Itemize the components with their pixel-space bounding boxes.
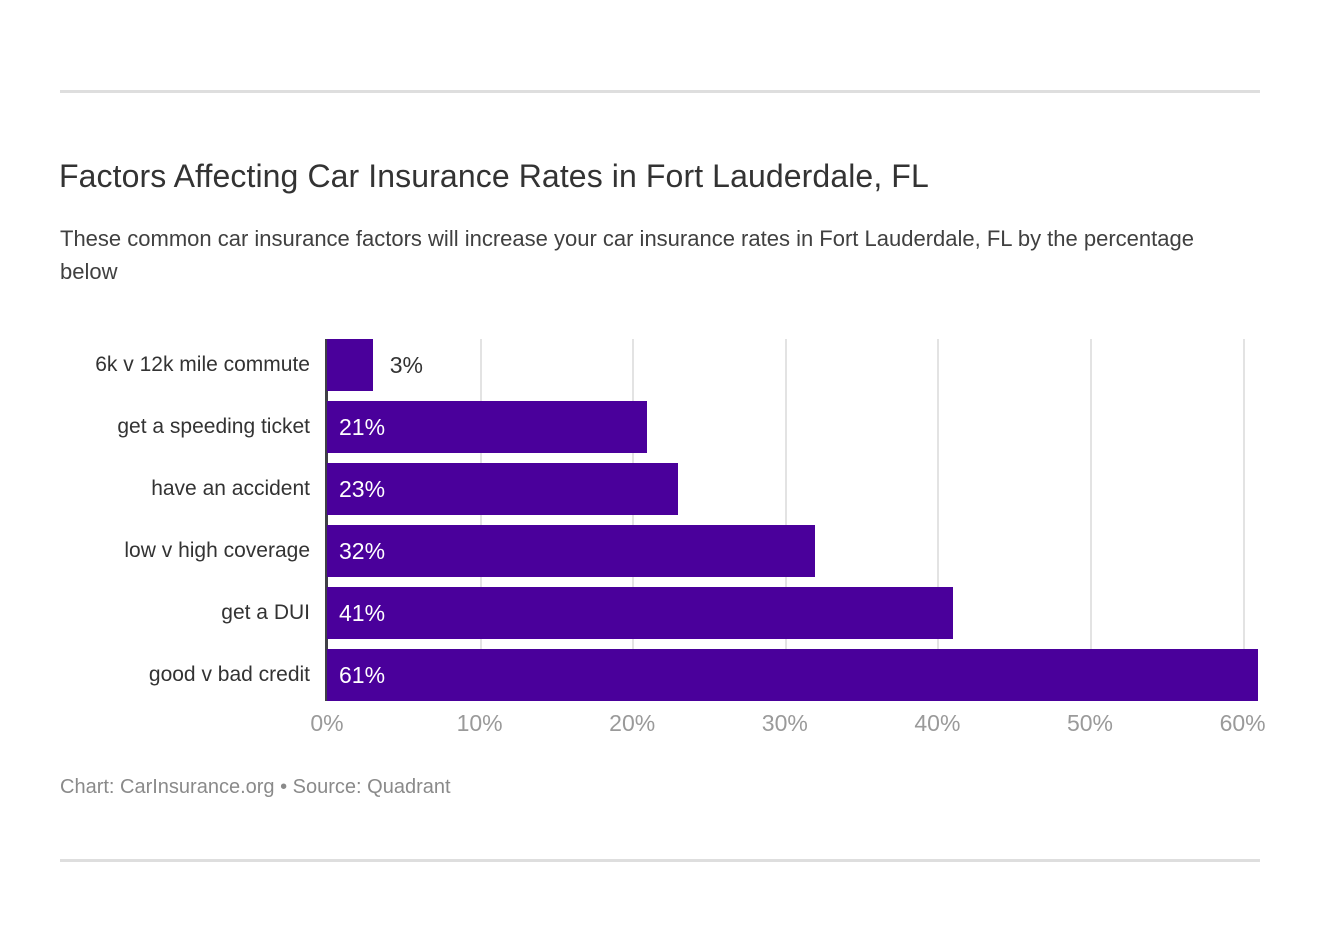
bar-row: have an accident23%: [0, 463, 1320, 515]
category-label: 6k v 12k mile commute: [0, 339, 310, 391]
category-label: get a DUI: [0, 587, 310, 639]
bar-value-label: 61%: [339, 649, 385, 701]
bar-row: 6k v 12k mile commute3%: [0, 339, 1320, 391]
category-label: low v high coverage: [0, 525, 310, 577]
x-tick-label: 50%: [1067, 710, 1113, 737]
bar[interactable]: [327, 525, 815, 577]
chart-page: Factors Affecting Car Insurance Rates in…: [0, 0, 1320, 944]
x-tick-label: 60%: [1220, 710, 1266, 737]
plot-area: 6k v 12k mile commute3%get a speeding ti…: [0, 330, 1320, 710]
x-axis-ticks: 0%10%20%30%40%50%60%: [0, 710, 1320, 750]
bottom-divider: [60, 859, 1260, 862]
bar-container: 21%: [327, 401, 647, 453]
bar[interactable]: [327, 587, 953, 639]
category-label: good v bad credit: [0, 649, 310, 701]
bar-value-label: 3%: [390, 339, 423, 391]
bar-value-label: 32%: [339, 525, 385, 577]
chart-subtitle: These common car insurance factors will …: [60, 222, 1235, 288]
top-divider: [60, 90, 1260, 93]
x-tick-label: 0%: [310, 710, 343, 737]
bar-value-label: 21%: [339, 401, 385, 453]
bar-row: low v high coverage32%: [0, 525, 1320, 577]
bar-container: 41%: [327, 587, 953, 639]
bar-container: 3%: [327, 339, 373, 391]
x-tick-label: 20%: [609, 710, 655, 737]
bar-container: 23%: [327, 463, 678, 515]
chart-credit: Chart: CarInsurance.org • Source: Quadra…: [60, 776, 451, 799]
category-label: get a speeding ticket: [0, 401, 310, 453]
bar-container: 32%: [327, 525, 815, 577]
x-tick-label: 40%: [914, 710, 960, 737]
bar[interactable]: [327, 339, 373, 391]
category-label: have an accident: [0, 463, 310, 515]
bar-rows: 6k v 12k mile commute3%get a speeding ti…: [0, 339, 1320, 701]
bar-row: get a speeding ticket21%: [0, 401, 1320, 453]
bar-row: good v bad credit61%: [0, 649, 1320, 701]
x-tick-label: 10%: [457, 710, 503, 737]
bar[interactable]: [327, 649, 1258, 701]
bar-value-label: 23%: [339, 463, 385, 515]
bar-row: get a DUI41%: [0, 587, 1320, 639]
bar-value-label: 41%: [339, 587, 385, 639]
bar-container: 61%: [327, 649, 1258, 701]
page-title: Factors Affecting Car Insurance Rates in…: [59, 155, 1239, 197]
x-tick-label: 30%: [762, 710, 808, 737]
